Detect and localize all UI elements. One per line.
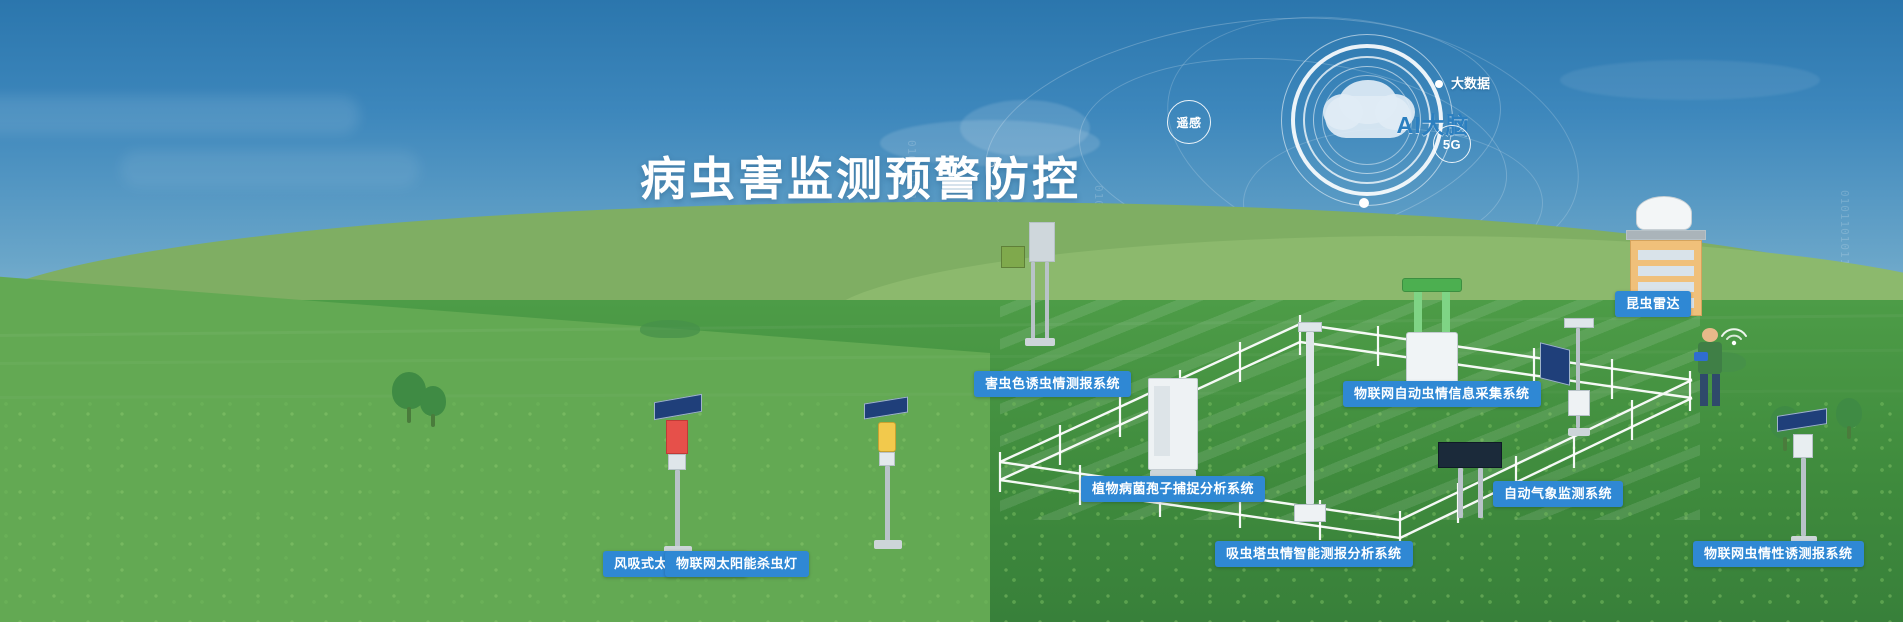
worker-leg [1700, 374, 1708, 406]
ai-brain-label: AI大脑 [1283, 106, 1583, 140]
led-screen [1438, 442, 1502, 468]
collector-rod [1414, 292, 1422, 332]
collector-cabinet [1406, 332, 1458, 384]
tower-cabinet [1294, 504, 1326, 522]
sensor-housing [1029, 222, 1055, 262]
cabinet-panel [1154, 386, 1170, 456]
node-big-data-label: 大数据 [1451, 73, 1490, 92]
headline-line1: 病虫害监测预警防控 [640, 150, 1081, 208]
device-label-plant-spore-capture-analysis-system[interactable]: 植物病菌孢子捕捉分析系统 [1081, 476, 1265, 502]
solar-panel-icon [864, 397, 908, 420]
device-label-suction-tower-pest-forecast-system[interactable]: 吸虫塔虫情智能测报分析系统 [1215, 541, 1413, 567]
mast-pole [1031, 262, 1035, 340]
tablet-icon [1694, 352, 1708, 361]
display-pole [1458, 468, 1463, 518]
ai-brain-cluster: AI大脑 遥感 大数据 5G 物联网 [1283, 38, 1583, 238]
device-label-color-lure-pest-forecast-system[interactable]: 害虫色诱虫情测报系统 [974, 371, 1131, 397]
lamp-collector [668, 454, 686, 470]
node-iot-dot[interactable] [1359, 198, 1369, 208]
building-window [1638, 266, 1694, 276]
trap-pole [1801, 458, 1806, 536]
node-remote-sensing-label: 遥感 [1176, 114, 1201, 131]
wifi-icon [1716, 316, 1752, 346]
device-auto-weather-monitoring-system [1540, 318, 1610, 448]
collector-rod [1442, 292, 1450, 332]
tree [1836, 398, 1862, 440]
tree [420, 386, 446, 428]
tower-cap [1298, 322, 1322, 332]
node-5g-label: 5G [1443, 137, 1461, 152]
lamp-body [878, 422, 896, 452]
device-suction-tower-pest-forecast-system [1288, 322, 1334, 534]
device-label-iot-pheromone-pest-forecast-system[interactable]: 物联网虫情性诱测报系统 [1693, 541, 1864, 567]
lamp-base [874, 540, 902, 549]
collector-canopy [1402, 278, 1462, 292]
radar-platform [1626, 230, 1706, 240]
solar-panel-icon [654, 394, 702, 420]
anemometer-icon [1564, 318, 1594, 328]
mast-base [1025, 338, 1055, 346]
lamp-collector [879, 452, 895, 466]
weather-base [1568, 428, 1590, 436]
device-iot-solar-insect-lamp [860, 400, 916, 550]
pest-monitoring-banner: 01000101101101010 0100101101 01011010110… [0, 0, 1903, 622]
device-iot-pheromone-pest-forecast-system [1775, 412, 1835, 548]
device-color-lure-pest-forecast-system [995, 222, 1073, 352]
pheromone-trap [1793, 434, 1813, 458]
node-5g[interactable]: 5G [1433, 125, 1471, 163]
lamp-body [666, 420, 688, 454]
bush [640, 320, 700, 338]
building-window [1638, 250, 1694, 260]
cloud-shape [1560, 60, 1820, 100]
tower-column [1306, 332, 1314, 504]
lamp-pole [675, 470, 680, 548]
device-label-insect-radar[interactable]: 昆虫雷达 [1615, 291, 1691, 317]
weather-cabinet [1568, 390, 1590, 416]
lure-trap [1001, 246, 1025, 268]
device-label-auto-weather-monitoring-system[interactable]: 自动气象监测系统 [1493, 481, 1623, 507]
solar-panel-icon [1540, 342, 1570, 385]
node-big-data-dot[interactable] [1435, 80, 1443, 88]
lamp-pole [885, 466, 890, 542]
display-pole [1478, 468, 1483, 518]
led-display-board [1438, 442, 1504, 522]
device-label-iot-auto-pest-info-collection-system[interactable]: 物联网自动虫情信息采集系统 [1343, 381, 1541, 407]
device-wind-suction-solar-insect-lamp [648, 398, 708, 558]
field-rows [0, 300, 1903, 622]
mast-pole [1045, 262, 1049, 340]
node-remote-sensing[interactable]: 遥感 [1167, 100, 1211, 144]
cloud-band [120, 150, 420, 188]
solar-panel-icon [1777, 408, 1827, 432]
worker-leg [1712, 374, 1720, 406]
cloud-band [0, 96, 360, 134]
radar-dish-icon [1636, 196, 1692, 230]
device-label-iot-solar-insect-lamp[interactable]: 物联网太阳能杀虫灯 [665, 551, 809, 577]
